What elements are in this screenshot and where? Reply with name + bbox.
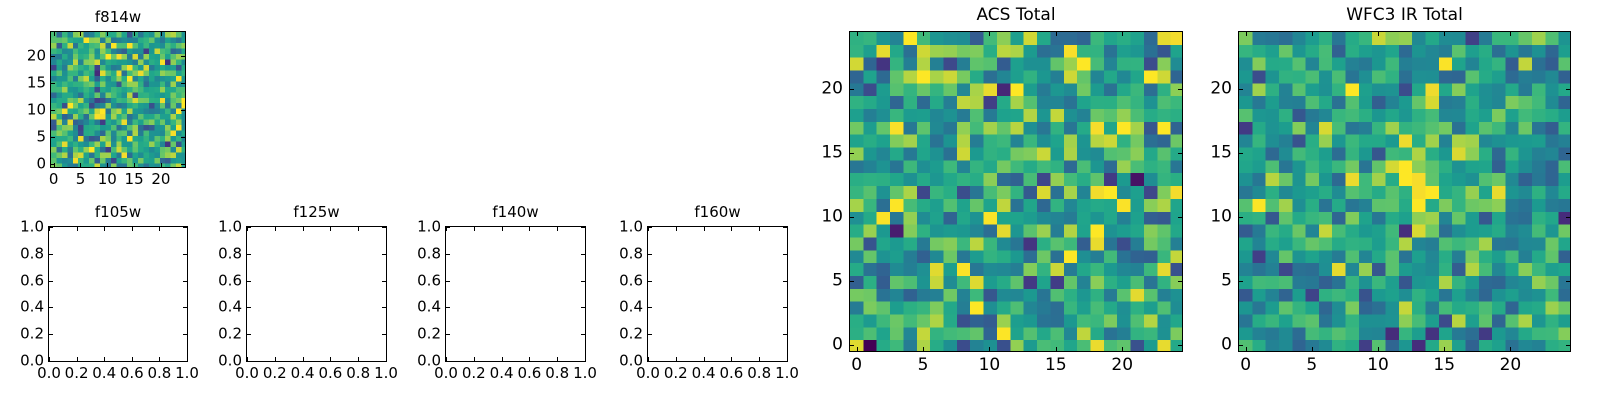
y-tick-label: 0.0 (20, 354, 44, 369)
y-tick-mark-right (181, 164, 185, 165)
y-tick-mark (850, 281, 854, 282)
y-tick-mark (648, 334, 652, 335)
x-tick-mark (585, 357, 586, 361)
x-tick-label: 20 (1111, 357, 1133, 374)
x-tick-mark (159, 357, 160, 361)
x-tick-mark (1246, 347, 1247, 351)
y-tick-mark-right (183, 281, 187, 282)
x-tick-mark (132, 357, 133, 361)
x-tick-mark-top (676, 227, 677, 231)
y-tick-mark-right (783, 334, 787, 335)
y-tick-mark (51, 164, 55, 165)
y-tick-mark-right (581, 227, 585, 228)
x-tick-label: 0 (851, 357, 862, 374)
y-tick-mark-right (581, 254, 585, 255)
y-tick-label: 0.6 (417, 273, 441, 288)
x-tick-mark (1122, 347, 1123, 351)
x-tick-label: 0.2 (664, 366, 688, 381)
x-tick-label: 0.6 (719, 366, 743, 381)
x-tick-mark (161, 163, 162, 167)
panel-title-f160w: f160w (648, 205, 787, 220)
x-tick-mark (77, 357, 78, 361)
x-tick-label: 0.8 (545, 366, 569, 381)
y-tick-mark (247, 227, 251, 228)
y-tick-mark (247, 361, 251, 362)
x-tick-mark-top (386, 227, 387, 231)
x-tick-mark-top (704, 227, 705, 231)
y-tick-mark-right (1566, 345, 1570, 346)
panel-title-wfc3-ir-total: WFC3 IR Total (1239, 7, 1570, 24)
y-tick-label: 10 (27, 103, 46, 118)
x-tick-mark-top (104, 227, 105, 231)
x-tick-mark (731, 357, 732, 361)
y-tick-mark (446, 307, 450, 308)
y-tick-label: 20 (27, 49, 46, 64)
y-tick-mark (51, 83, 55, 84)
x-tick-mark (303, 357, 304, 361)
x-tick-label: 10 (1367, 357, 1389, 374)
x-tick-mark-top (161, 32, 162, 36)
y-tick-mark-right (382, 361, 386, 362)
y-tick-mark (49, 227, 53, 228)
x-tick-mark-top (134, 32, 135, 36)
y-tick-mark (648, 361, 652, 362)
y-tick-mark-right (183, 334, 187, 335)
x-tick-mark-top (474, 227, 475, 231)
x-tick-mark-top (1246, 32, 1247, 36)
x-tick-label: 0.4 (92, 366, 116, 381)
y-tick-label: 15 (27, 76, 46, 91)
y-tick-mark-right (1178, 89, 1182, 90)
x-tick-mark-top (132, 227, 133, 231)
x-tick-mark-top (275, 227, 276, 231)
x-tick-mark (187, 357, 188, 361)
x-tick-label: 0.2 (263, 366, 287, 381)
y-tick-mark-right (783, 281, 787, 282)
y-tick-label: 5 (1221, 272, 1232, 289)
y-tick-mark-right (382, 281, 386, 282)
x-tick-mark (104, 357, 105, 361)
x-tick-mark (1378, 347, 1379, 351)
axes-f160w[interactable]: f160w 0.00.20.40.60.81.00.00.20.40.60.81… (647, 226, 788, 362)
panel-title-f125w: f125w (247, 205, 386, 220)
x-tick-mark-top (303, 227, 304, 231)
x-tick-label: 5 (918, 357, 929, 374)
y-tick-label: 0.6 (20, 273, 44, 288)
panel-title-f814w: f814w (51, 10, 185, 25)
y-tick-mark (446, 227, 450, 228)
x-tick-mark (1056, 347, 1057, 351)
y-tick-label: 0 (832, 336, 843, 353)
x-tick-mark-top (159, 227, 160, 231)
y-tick-mark (648, 227, 652, 228)
y-tick-label: 15 (1210, 145, 1232, 162)
panel-title-f140w: f140w (446, 205, 585, 220)
x-tick-label: 1.0 (573, 366, 597, 381)
y-tick-label: 1.0 (218, 220, 242, 235)
y-tick-mark (850, 217, 854, 218)
y-tick-mark (446, 281, 450, 282)
y-tick-label: 0.0 (218, 354, 242, 369)
x-tick-mark-top (1312, 32, 1313, 36)
x-tick-mark-top (787, 227, 788, 231)
x-tick-mark (107, 163, 108, 167)
axes-f125w[interactable]: f125w 0.00.20.40.60.81.00.00.20.40.60.81… (246, 226, 387, 362)
y-tick-mark (51, 56, 55, 57)
y-tick-mark (446, 254, 450, 255)
x-tick-mark-top (989, 32, 990, 36)
y-tick-mark-right (181, 83, 185, 84)
y-tick-mark-right (183, 307, 187, 308)
x-tick-label: 0 (49, 172, 59, 187)
axes-f814w[interactable]: f814w 0510152005101520 (50, 31, 186, 168)
y-tick-label: 5 (832, 272, 843, 289)
y-tick-mark (1239, 281, 1243, 282)
y-tick-mark (1239, 217, 1243, 218)
x-tick-mark-top (107, 32, 108, 36)
axes-wfc3-ir-total[interactable]: WFC3 IR Total 0510152005101520 (1238, 31, 1571, 352)
y-tick-mark (51, 110, 55, 111)
x-tick-mark (502, 357, 503, 361)
y-tick-mark (247, 254, 251, 255)
x-tick-mark-top (1510, 32, 1511, 36)
y-tick-mark-right (181, 137, 185, 138)
x-tick-label: 0.4 (291, 366, 315, 381)
x-tick-mark-top (1056, 32, 1057, 36)
x-tick-mark (557, 357, 558, 361)
y-tick-mark (446, 361, 450, 362)
y-tick-mark (850, 89, 854, 90)
y-tick-label: 0.6 (218, 273, 242, 288)
y-tick-mark-right (181, 56, 185, 57)
y-tick-mark (51, 137, 55, 138)
x-tick-label: 15 (1045, 357, 1067, 374)
y-tick-label: 1.0 (619, 220, 643, 235)
x-tick-label: 0.4 (490, 366, 514, 381)
y-tick-mark (49, 307, 53, 308)
x-tick-label: 0.8 (747, 366, 771, 381)
y-tick-mark-right (382, 254, 386, 255)
y-tick-mark-right (1178, 217, 1182, 218)
y-tick-label: 15 (821, 145, 843, 162)
x-tick-mark-top (1444, 32, 1445, 36)
heatmap-canvas-acs-total (850, 32, 1182, 351)
x-tick-mark-top (80, 32, 81, 36)
y-tick-mark (1239, 153, 1243, 154)
y-tick-mark-right (382, 307, 386, 308)
x-tick-mark (923, 347, 924, 351)
y-tick-mark-right (183, 227, 187, 228)
y-tick-label: 0.2 (417, 327, 441, 342)
x-tick-mark (857, 347, 858, 351)
y-tick-label: 10 (1210, 209, 1232, 226)
y-tick-label: 0.2 (218, 327, 242, 342)
x-tick-mark (330, 357, 331, 361)
x-tick-mark-top (923, 32, 924, 36)
y-tick-label: 20 (1210, 81, 1232, 98)
y-tick-label: 5 (36, 130, 46, 145)
y-tick-mark-right (1566, 217, 1570, 218)
x-tick-mark-top (1122, 32, 1123, 36)
x-tick-mark-top (759, 227, 760, 231)
x-tick-mark (1312, 347, 1313, 351)
x-tick-mark-top (77, 227, 78, 231)
x-tick-mark (386, 357, 387, 361)
x-tick-mark-top (731, 227, 732, 231)
x-tick-label: 0.2 (462, 366, 486, 381)
y-tick-label: 10 (821, 209, 843, 226)
x-tick-mark-top (529, 227, 530, 231)
x-tick-label: 15 (125, 172, 144, 187)
panel-title-f105w: f105w (49, 205, 187, 220)
y-tick-mark-right (181, 110, 185, 111)
y-tick-mark-right (1566, 281, 1570, 282)
y-tick-label: 20 (821, 81, 843, 98)
x-tick-label: 0.2 (65, 366, 89, 381)
x-tick-label: 20 (151, 172, 170, 187)
panel-title-acs-total: ACS Total (850, 7, 1182, 24)
x-tick-mark (358, 357, 359, 361)
x-tick-label: 10 (98, 172, 117, 187)
y-tick-mark-right (581, 334, 585, 335)
y-tick-mark (648, 254, 652, 255)
y-tick-mark-right (581, 281, 585, 282)
y-tick-mark (1239, 345, 1243, 346)
y-tick-mark-right (1178, 153, 1182, 154)
y-tick-label: 0 (1221, 336, 1232, 353)
x-tick-label: 0 (1240, 357, 1251, 374)
y-tick-mark (648, 281, 652, 282)
x-tick-label: 15 (1433, 357, 1455, 374)
x-tick-mark-top (585, 227, 586, 231)
x-tick-label: 20 (1500, 357, 1522, 374)
x-tick-mark (676, 357, 677, 361)
y-tick-label: 0 (36, 157, 46, 172)
x-tick-label: 0.6 (120, 366, 144, 381)
y-tick-label: 0.0 (619, 354, 643, 369)
y-tick-mark (49, 281, 53, 282)
y-tick-label: 0.6 (619, 273, 643, 288)
y-tick-mark-right (1178, 345, 1182, 346)
y-tick-mark-right (183, 254, 187, 255)
y-tick-mark (49, 361, 53, 362)
matplotlib-figure: f814w 0510152005101520 f105w 0.00.20.40.… (0, 0, 1600, 400)
y-tick-mark (49, 254, 53, 255)
x-tick-label: 1.0 (775, 366, 799, 381)
y-tick-mark-right (1566, 153, 1570, 154)
y-tick-mark (446, 334, 450, 335)
x-tick-mark (787, 357, 788, 361)
x-tick-mark (529, 357, 530, 361)
x-tick-mark-top (358, 227, 359, 231)
axes-acs-total[interactable]: ACS Total 0510152005101520 (849, 31, 1183, 352)
y-tick-mark (648, 307, 652, 308)
x-tick-label: 5 (76, 172, 86, 187)
x-tick-mark (474, 357, 475, 361)
x-tick-mark-top (330, 227, 331, 231)
y-tick-mark-right (1566, 89, 1570, 90)
x-tick-label: 1.0 (374, 366, 398, 381)
y-tick-mark-right (783, 227, 787, 228)
x-tick-mark (1510, 347, 1511, 351)
y-tick-mark-right (783, 361, 787, 362)
y-tick-mark (850, 153, 854, 154)
x-tick-label: 5 (1306, 357, 1317, 374)
y-tick-mark-right (581, 361, 585, 362)
y-tick-mark (850, 345, 854, 346)
y-tick-mark (1239, 89, 1243, 90)
heatmap-f814w (51, 32, 185, 167)
axes-f105w[interactable]: f105w 0.00.20.40.60.81.00.00.20.40.60.81… (48, 226, 188, 362)
y-tick-label: 0.4 (20, 300, 44, 315)
x-tick-label: 0.8 (147, 366, 171, 381)
heatmap-canvas-f814w (51, 32, 185, 167)
y-tick-label: 0.8 (218, 246, 242, 261)
y-tick-mark (49, 334, 53, 335)
y-tick-mark-right (581, 307, 585, 308)
x-tick-mark-top (502, 227, 503, 231)
y-tick-label: 1.0 (417, 220, 441, 235)
heatmap-canvas-wfc3-ir-total (1239, 32, 1570, 351)
x-tick-mark (704, 357, 705, 361)
y-tick-mark-right (783, 254, 787, 255)
y-tick-label: 0.4 (218, 300, 242, 315)
x-tick-mark (759, 357, 760, 361)
y-tick-mark (247, 334, 251, 335)
x-tick-mark (989, 347, 990, 351)
y-tick-label: 0.4 (417, 300, 441, 315)
x-tick-label: 0.8 (346, 366, 370, 381)
heatmap-acs-total (850, 32, 1182, 351)
x-tick-mark (1444, 347, 1445, 351)
x-tick-mark (275, 357, 276, 361)
x-tick-mark-top (1378, 32, 1379, 36)
x-tick-label: 10 (979, 357, 1001, 374)
heatmap-wfc3-ir-total (1239, 32, 1570, 351)
y-tick-label: 0.8 (417, 246, 441, 261)
y-tick-label: 0.4 (619, 300, 643, 315)
y-tick-mark-right (382, 227, 386, 228)
y-tick-label: 1.0 (20, 220, 44, 235)
x-tick-label: 1.0 (175, 366, 199, 381)
x-tick-mark-top (557, 227, 558, 231)
x-tick-label: 0.6 (517, 366, 541, 381)
x-tick-mark (80, 163, 81, 167)
y-tick-mark-right (183, 361, 187, 362)
y-tick-mark-right (382, 334, 386, 335)
y-tick-mark (247, 281, 251, 282)
y-tick-mark-right (783, 307, 787, 308)
y-tick-mark (247, 307, 251, 308)
x-tick-mark (134, 163, 135, 167)
y-tick-label: 0.8 (20, 246, 44, 261)
x-tick-mark-top (857, 32, 858, 36)
y-tick-label: 0.8 (619, 246, 643, 261)
y-tick-label: 0.2 (20, 327, 44, 342)
x-tick-label: 0.6 (318, 366, 342, 381)
axes-f140w[interactable]: f140w 0.00.20.40.60.81.00.00.20.40.60.81… (445, 226, 586, 362)
y-tick-label: 0.2 (619, 327, 643, 342)
x-tick-label: 0.4 (692, 366, 716, 381)
x-tick-mark-top (187, 227, 188, 231)
y-tick-mark-right (1178, 281, 1182, 282)
x-tick-mark-top (54, 32, 55, 36)
y-tick-label: 0.0 (417, 354, 441, 369)
